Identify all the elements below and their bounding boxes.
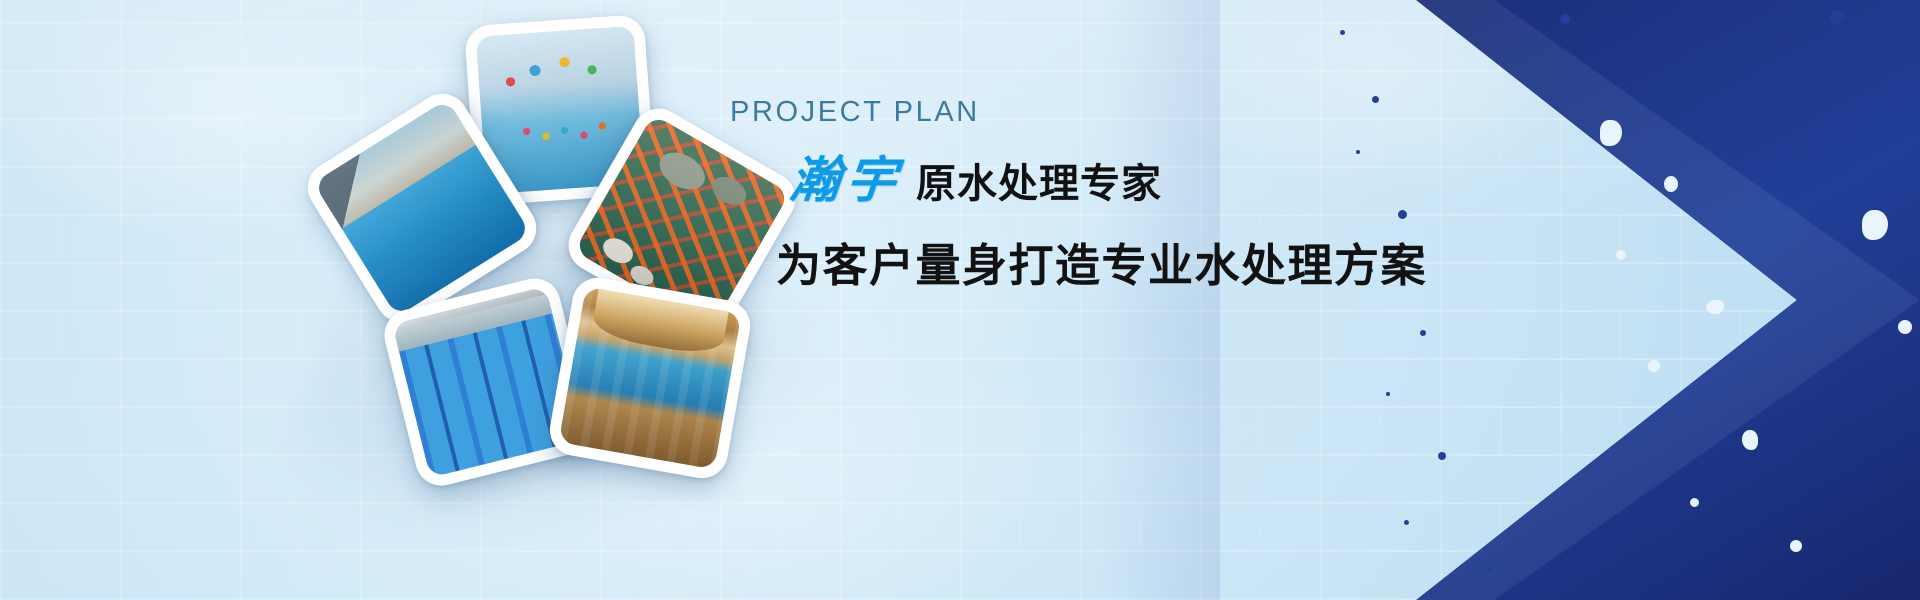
banner-text-block: PROJECT PLAN 瀚宇 原水处理专家 为客户量身打造专业水处理方案: [728, 98, 1348, 288]
paint-splatter-highlight: [1616, 250, 1626, 260]
brand-name: 瀚宇: [787, 155, 904, 205]
banner-headline: 原水处理专家: [916, 164, 1162, 204]
paint-splatter-highlight: [1898, 320, 1912, 334]
paint-splatter-highlight: [1664, 176, 1678, 192]
promotional-banner: PROJECT PLAN 瀚宇 原水处理专家 为客户量身打造专业水处理方案: [0, 0, 1920, 600]
paint-splatter-dot: [1340, 30, 1345, 35]
banner-subheadline: 为客户量身打造专业水处理方案: [776, 243, 1348, 288]
paint-splatter-dot: [1404, 520, 1409, 525]
paint-splatter-dot: [1386, 392, 1390, 396]
photo-frame-indoor-pool[interactable]: [546, 274, 755, 483]
paint-splatter-dot: [1486, 566, 1492, 572]
paint-splatter-dot: [1420, 330, 1426, 336]
competition-lane-pool-image: [392, 286, 584, 478]
indoor-swimming-pool-image: [558, 286, 741, 469]
paint-splatter-highlight: [1790, 540, 1802, 552]
banner-kicker: PROJECT PLAN: [730, 98, 1348, 127]
navy-edge-gradient: [1100, 0, 1220, 600]
paint-splatter-dot: [1560, 14, 1570, 24]
banner-headline-row: 瀚宇 原水处理专家: [790, 155, 1348, 205]
paint-splatter-highlight: [1648, 360, 1660, 372]
paint-splatter-dot: [1356, 150, 1360, 154]
paint-splatter-dot: [1372, 96, 1379, 103]
paint-splatter-highlight: [1742, 430, 1758, 450]
photo-cluster: [330, 20, 790, 480]
paint-splatter-dot: [1830, 10, 1844, 24]
paint-splatter-highlight: [1690, 498, 1699, 507]
paint-splatter-dot: [1398, 210, 1407, 219]
paint-splatter-dot: [1438, 452, 1446, 460]
paint-splatter-highlight: [1706, 300, 1724, 314]
